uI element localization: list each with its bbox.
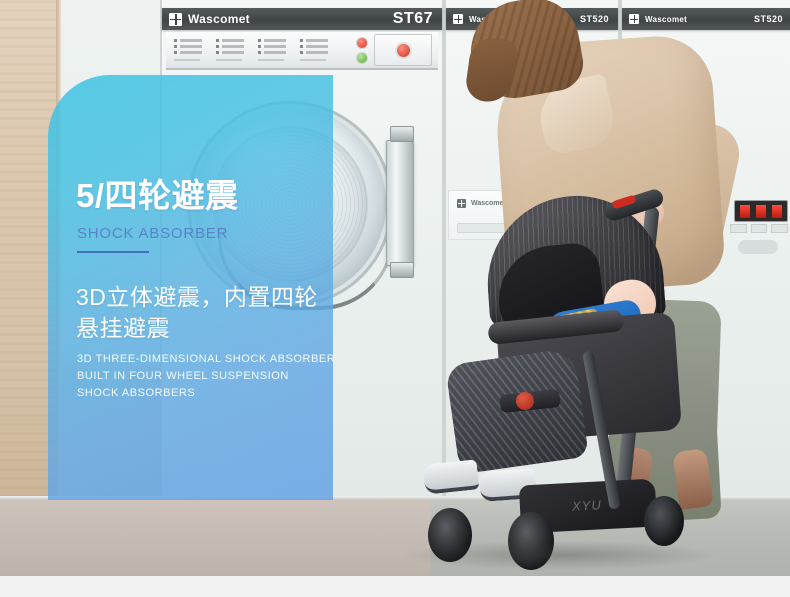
control-option	[258, 39, 286, 42]
program-knob-panel	[374, 34, 432, 66]
program-knob-icon[interactable]	[395, 42, 412, 59]
control-option	[174, 51, 202, 54]
bottom-strip	[0, 576, 790, 597]
machine-1-model: ST67	[393, 10, 433, 28]
control-option	[174, 39, 202, 42]
machine-2-model: ST520	[580, 14, 609, 24]
sub-panel-brand: Wascomet	[471, 200, 506, 207]
overlay-en-line-1: 3D THREE-DIMENSIONAL SHOCK ABSORBER	[77, 353, 335, 365]
control-option	[258, 51, 286, 54]
control-option	[258, 45, 286, 48]
control-caption	[300, 59, 326, 61]
control-option-columns	[174, 39, 328, 61]
overlay-divider	[77, 251, 149, 253]
ground-shadow	[400, 540, 720, 570]
control-option	[300, 39, 328, 42]
led-display	[734, 200, 788, 222]
machine-3-brand: Wascomet	[645, 15, 687, 24]
control-option	[216, 51, 244, 54]
door-hinge-bracket-top	[390, 126, 414, 142]
machine-3-model: ST520	[754, 14, 783, 24]
control-caption	[216, 59, 242, 61]
control-column	[216, 39, 244, 61]
control-option	[216, 39, 244, 42]
marketing-overlay-panel: 5/四轮避震 SHOCK ABSORBER 3D立体避震，内置四轮 悬挂避震 3…	[48, 75, 333, 500]
wascomet-logo-icon	[453, 14, 463, 24]
stroller-wheel-rear	[644, 496, 684, 546]
machine-1-control-panel	[166, 32, 438, 70]
status-lamps	[356, 37, 368, 64]
stroller-brand-logo: XYU	[572, 497, 602, 514]
overlay-cn-line-1: 3D立体避震，内置四轮	[76, 282, 318, 312]
product-banner: Wascomet ST67	[0, 0, 790, 597]
machine-1-brand: Wascomet	[188, 12, 250, 26]
overlay-headline: 5/四轮避震	[76, 179, 239, 212]
control-option	[216, 45, 244, 48]
control-option	[300, 45, 328, 48]
control-caption	[258, 59, 284, 61]
control-column	[258, 39, 286, 61]
child-shoe-left	[423, 459, 480, 494]
control-column	[300, 39, 328, 61]
control-option	[174, 45, 202, 48]
wascomet-logo-icon	[457, 199, 466, 208]
door-hinge	[386, 140, 414, 266]
overlay-content: 5/四轮避震 SHOCK ABSORBER 3D立体避震，内置四轮 悬挂避震 3…	[48, 75, 333, 500]
machine-1-header: Wascomet ST67	[162, 8, 442, 30]
door-hinge-bracket-bottom	[390, 262, 414, 278]
wascomet-logo-icon	[629, 14, 639, 24]
stop-button-icon[interactable]	[356, 37, 368, 49]
control-caption	[174, 59, 200, 61]
wascomet-logo-icon	[169, 13, 182, 26]
overlay-cn-line-2: 悬挂避震	[76, 313, 170, 343]
overlay-en-line-2: BUILT IN FOUR WHEEL SUSPENSION	[77, 370, 289, 382]
coin-slots	[730, 224, 788, 234]
control-option	[300, 51, 328, 54]
start-button-icon[interactable]	[356, 52, 368, 64]
overlay-subheadline: SHOCK ABSORBER	[77, 225, 228, 242]
machine-3-header: Wascomet ST520	[622, 8, 790, 30]
harness-buckle	[516, 392, 534, 410]
overlay-en-line-3: SHOCK ABSORBERS	[77, 387, 195, 399]
control-column	[174, 39, 202, 61]
floor-foreground	[0, 500, 430, 576]
machine-handle	[738, 240, 778, 254]
